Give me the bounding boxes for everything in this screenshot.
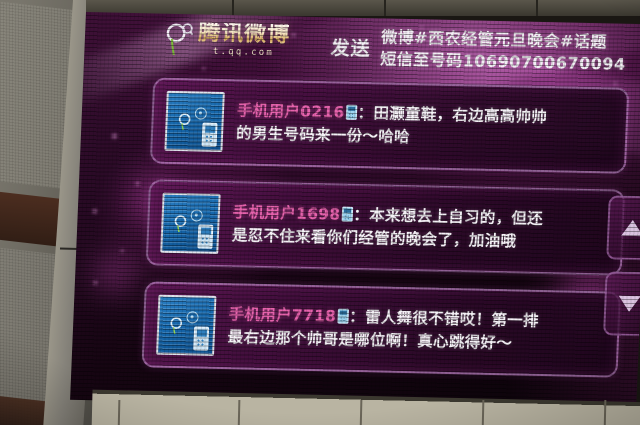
ceiling-seam — [384, 0, 386, 16]
message-list: 手机用户0216：田灏童鞋，右边高高帅帅 的男生号码来一份～哈哈 — [141, 77, 629, 393]
message-body: 手机用户0216：田灏童鞋，右边高高帅帅 的男生号码来一份～哈哈 — [236, 99, 617, 153]
separator: ： — [353, 206, 370, 224]
logo-url: t.qq.com — [213, 48, 274, 58]
mobile-phone-icon — [345, 105, 357, 120]
scroll-down-button[interactable] — [603, 271, 640, 336]
ceiling-seam — [232, 0, 234, 16]
sparkle — [111, 133, 118, 140]
send-label: 发送 — [330, 33, 371, 61]
message-card[interactable]: 手机用户1698：本来想去上自习的，但还 是忍不住来看你们经管的晚会了，加油哦 — [146, 179, 625, 275]
scroll-controls — [603, 195, 640, 336]
sparkle — [613, 82, 617, 86]
mobile-phone-icon — [341, 207, 353, 222]
mobile-user-avatar-icon — [164, 91, 224, 152]
arrow-down-icon — [618, 296, 640, 312]
sparkle — [120, 249, 124, 253]
scroll-up-button[interactable] — [606, 195, 640, 260]
mobile-user-avatar-icon — [156, 295, 216, 356]
message-text-1: 本来想去上自习的，但还 — [369, 206, 544, 228]
separator: ： — [357, 104, 374, 122]
message-body: 手机用户7718：雷人舞很不错哎！第一排 最右边那个帅哥是哪位啊！真心跳得好～ — [227, 303, 608, 357]
tencent-weibo-penguin-icon — [162, 22, 193, 57]
screen-header: 腾讯微博 t.qq.com 发送 微博#西农经管元旦晚会#话题 短信至号码106… — [84, 12, 640, 82]
bokeh-blob — [84, 242, 146, 303]
sparkle — [135, 181, 140, 186]
message-card[interactable]: 手机用户0216：田灏童鞋，右边高高帅帅 的男生号码来一份～哈哈 — [150, 77, 629, 173]
separator: ： — [349, 308, 366, 326]
username: 手机用户1698 — [233, 203, 341, 223]
sparkle — [92, 208, 98, 214]
tencent-weibo-logo: 腾讯微博 t.qq.com — [162, 22, 290, 59]
logo-text: 腾讯微博 — [198, 22, 291, 46]
led-display-screen: 腾讯微博 t.qq.com 发送 微博#西农经管元旦晚会#话题 短信至号码106… — [70, 12, 640, 412]
message-body: 手机用户1698：本来想去上自习的，但还 是忍不住来看你们经管的晚会了，加油哦 — [231, 201, 612, 255]
sparkle — [93, 280, 98, 285]
mobile-phone-icon — [337, 309, 349, 324]
mobile-user-avatar-icon — [160, 193, 220, 254]
instruction-line-2: 短信至号码10690700670094 — [380, 48, 626, 75]
photo-of-led-screen: 腾讯微博 t.qq.com 发送 微博#西农经管元旦晚会#话题 短信至号码106… — [0, 0, 640, 425]
sms-instructions: 微博#西农经管元旦晚会#话题 短信至号码10690700670094 — [380, 26, 627, 75]
message-text-1: 雷人舞很不错哎！第一排 — [365, 308, 540, 330]
username: 手机用户7718 — [228, 305, 336, 325]
username: 手机用户0216 — [237, 101, 345, 121]
message-card[interactable]: 手机用户7718：雷人舞很不错哎！第一排 最右边那个帅哥是哪位啊！真心跳得好～ — [141, 281, 620, 377]
arrow-up-icon — [621, 220, 640, 236]
ceiling-seam — [536, 0, 538, 16]
message-text-1: 田灏童鞋，右边高高帅帅 — [373, 104, 548, 126]
